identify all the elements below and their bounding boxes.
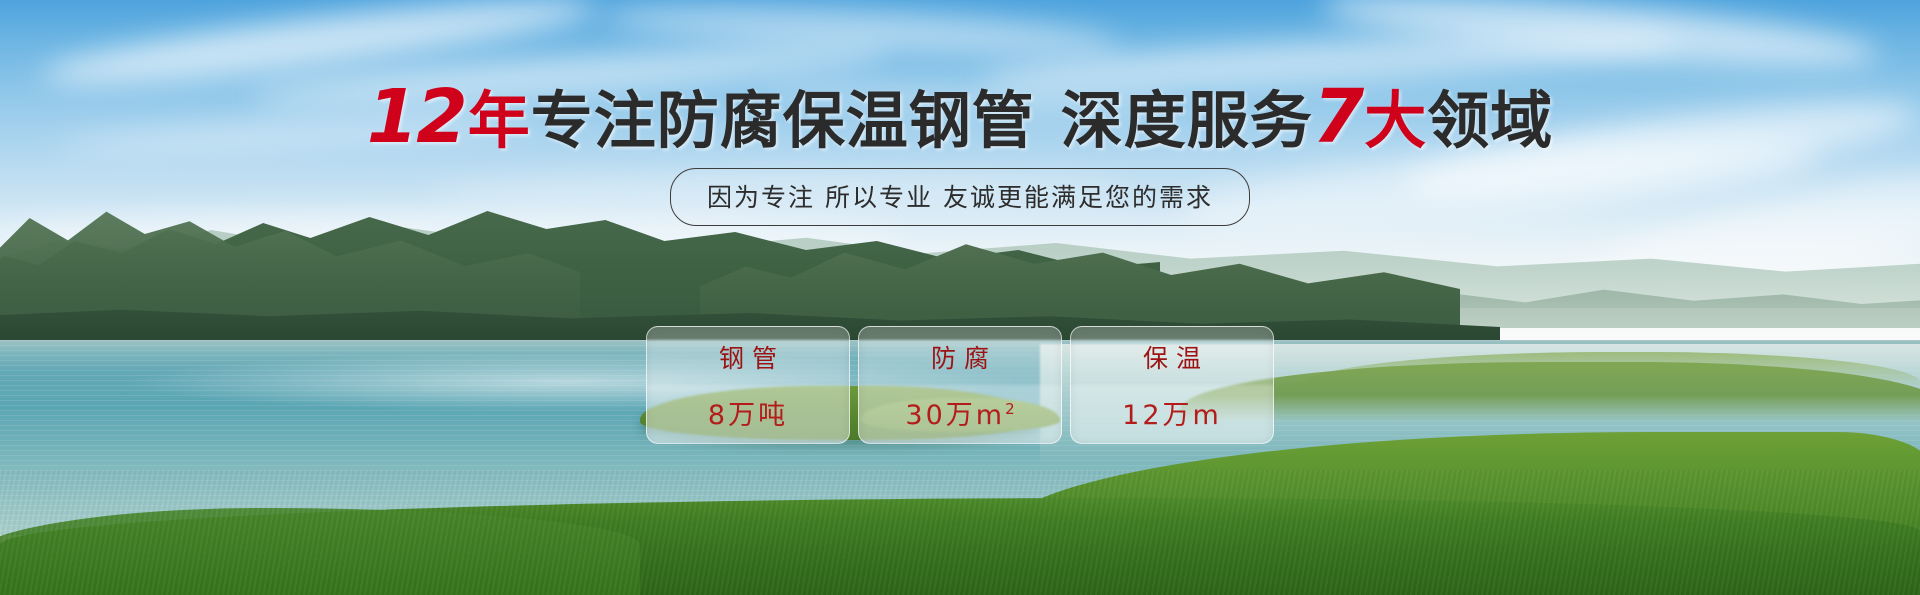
- stat-card-value-text: 8万吨: [708, 400, 788, 431]
- hero-banner: 12年专注防腐保温钢管深度服务7大领域 因为专注 所以专业 友诚更能满足您的需求…: [0, 0, 1920, 595]
- banner-subtitle: 因为专注 所以专业 友诚更能满足您的需求: [670, 168, 1250, 226]
- banner-headline: 12年专注防腐保温钢管深度服务7大领域: [0, 80, 1920, 154]
- stat-card-steel-pipe[interactable]: 钢管 8万吨: [646, 326, 850, 444]
- stat-card-title: 防腐: [923, 339, 997, 375]
- stat-card-group: 钢管 8万吨 防腐 30万m2 保温 12万m: [0, 326, 1920, 444]
- stat-card-title: 保温: [1135, 339, 1209, 375]
- headline-years-number: 12: [367, 74, 468, 160]
- banner-subtitle-container: 因为专注 所以专业 友诚更能满足您的需求: [0, 168, 1920, 226]
- headline-fields-number: 7: [1313, 74, 1365, 160]
- stat-card-value-superscript: 2: [1005, 400, 1015, 418]
- stat-card-value: 30万m2: [905, 393, 1014, 432]
- stat-card-title: 钢管: [711, 339, 785, 375]
- headline-segment-two: 深度服务: [1061, 84, 1313, 157]
- stat-card-value: 8万吨: [708, 393, 788, 432]
- headline-segment-three: 领域: [1427, 84, 1553, 157]
- stat-card-value: 12万m: [1122, 393, 1222, 432]
- headline-fields-unit: 大: [1364, 84, 1427, 157]
- headline-years-unit: 年: [468, 84, 531, 157]
- stat-card-value-text: 30万m: [905, 400, 1005, 431]
- headline-segment-one: 专注防腐保温钢管: [531, 84, 1035, 157]
- stat-card-insulation[interactable]: 保温 12万m: [1070, 326, 1274, 444]
- stat-card-anticorrosion[interactable]: 防腐 30万m2: [858, 326, 1062, 444]
- stat-card-value-text: 12万m: [1122, 400, 1222, 431]
- grass-texture: [0, 470, 1920, 595]
